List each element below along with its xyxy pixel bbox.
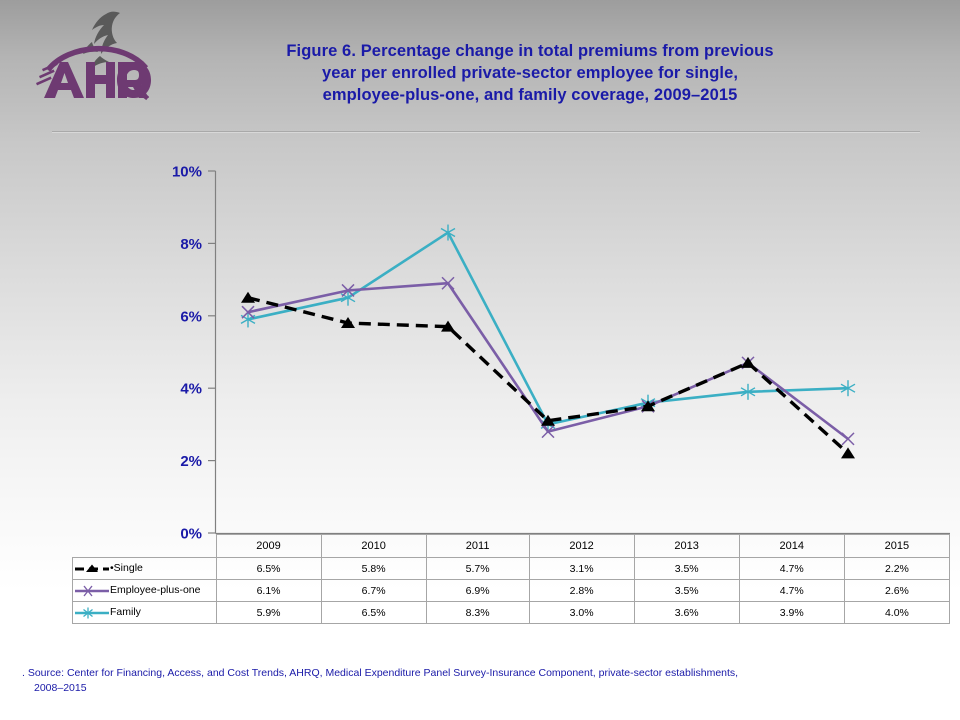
table-row: Employee-plus-one 6.1% 6.7% 6.9% 2.8% 3.… <box>73 580 950 602</box>
ahrq-logo <box>34 6 164 104</box>
series-family <box>241 225 855 433</box>
y-axis-tick-label: 6% <box>180 308 202 325</box>
legend-entry-family: Family <box>73 602 217 624</box>
y-axis-tick-label: 8% <box>180 236 202 253</box>
table-cell: 2.8% <box>529 580 634 602</box>
table-cell: 4.7% <box>739 580 844 602</box>
table-cell: 3.1% <box>529 558 634 580</box>
page-title: Figure 6. Percentage change in total pre… <box>195 40 865 106</box>
table-row: Family 5.9% 6.5% 8.3% 3.0% 3.6% 3.9% 4.0… <box>73 602 950 624</box>
source-note: . Source: Center for Financing, Access, … <box>22 666 922 696</box>
table-corner-cell <box>73 535 217 558</box>
y-axis-tick-label: 2% <box>180 453 202 470</box>
table-cell: 5.7% <box>426 558 529 580</box>
table-cell: 3.5% <box>634 580 739 602</box>
line-chart: 0%2%4%6%8%10% <box>0 150 960 550</box>
table-cell: 3.0% <box>529 602 634 624</box>
data-point-marker-asterisk <box>441 225 455 241</box>
table-cell: 5.9% <box>216 602 321 624</box>
source-line-2: 2008–2015 <box>22 681 922 696</box>
y-axis-tick-labels: 0%2%4%6%8%10% <box>172 164 202 543</box>
legend-marker-family <box>75 607 109 619</box>
table-cell: 6.5% <box>216 558 321 580</box>
legend-label-family: Family <box>110 607 141 619</box>
table-cell: 2.6% <box>844 580 949 602</box>
source-line-1: . Source: Center for Financing, Access, … <box>22 667 738 679</box>
title-line-1: Figure 6. Percentage change in total pre… <box>195 40 865 62</box>
legend-label-single: •Single <box>110 563 143 575</box>
table-col-header: 2013 <box>634 535 739 558</box>
table-cell: 3.5% <box>634 558 739 580</box>
legend-entry-employee-plus-one: Employee-plus-one <box>73 580 217 602</box>
legend-marker-single <box>75 563 109 575</box>
table-col-header: 2012 <box>529 535 634 558</box>
legend-marker-employee-plus-one <box>75 585 109 597</box>
table-cell: 6.9% <box>426 580 529 602</box>
slide-background: Figure 6. Percentage change in total pre… <box>0 0 960 720</box>
table-col-header: 2015 <box>844 535 949 558</box>
table-cell: 3.9% <box>739 602 844 624</box>
table-col-header: 2010 <box>321 535 426 558</box>
table-cell: 4.7% <box>739 558 844 580</box>
series-line <box>248 233 848 425</box>
table-cell: 5.8% <box>321 558 426 580</box>
table-cell: 6.5% <box>321 602 426 624</box>
title-line-2: year per enrolled private-sector employe… <box>195 62 865 84</box>
hhs-eagle-icon <box>83 12 120 68</box>
table-cell: 6.1% <box>216 580 321 602</box>
header-divider <box>52 131 920 133</box>
chart-series-layer <box>241 225 855 459</box>
y-axis-tick-label: 10% <box>172 164 202 181</box>
table-col-header: 2014 <box>739 535 844 558</box>
legend-label-employee-plus-one: Employee-plus-one <box>110 585 200 597</box>
table-cell: 8.3% <box>426 602 529 624</box>
table-cell: 2.2% <box>844 558 949 580</box>
table-cell: 6.7% <box>321 580 426 602</box>
y-axis-ticks <box>208 171 216 533</box>
table-col-header: 2011 <box>426 535 529 558</box>
data-table: 2009 2010 2011 2012 2013 2014 2015 •Sing… <box>72 534 950 624</box>
data-point-marker-x <box>842 433 854 445</box>
table-row: •Single 6.5% 5.8% 5.7% 3.1% 3.5% 4.7% 2.… <box>73 558 950 580</box>
title-line-3: employee-plus-one, and family coverage, … <box>195 84 865 106</box>
data-point-marker-triangle <box>841 447 855 458</box>
legend-entry-single: •Single <box>73 558 217 580</box>
table-cell: 4.0% <box>844 602 949 624</box>
ahrq-logo-svg <box>34 6 164 104</box>
table-header-row: 2009 2010 2011 2012 2013 2014 2015 <box>73 535 950 558</box>
chart-svg: 0%2%4%6%8%10% <box>0 150 960 550</box>
y-axis-tick-label: 4% <box>180 381 202 398</box>
table-cell: 3.6% <box>634 602 739 624</box>
table-col-header: 2009 <box>216 535 321 558</box>
